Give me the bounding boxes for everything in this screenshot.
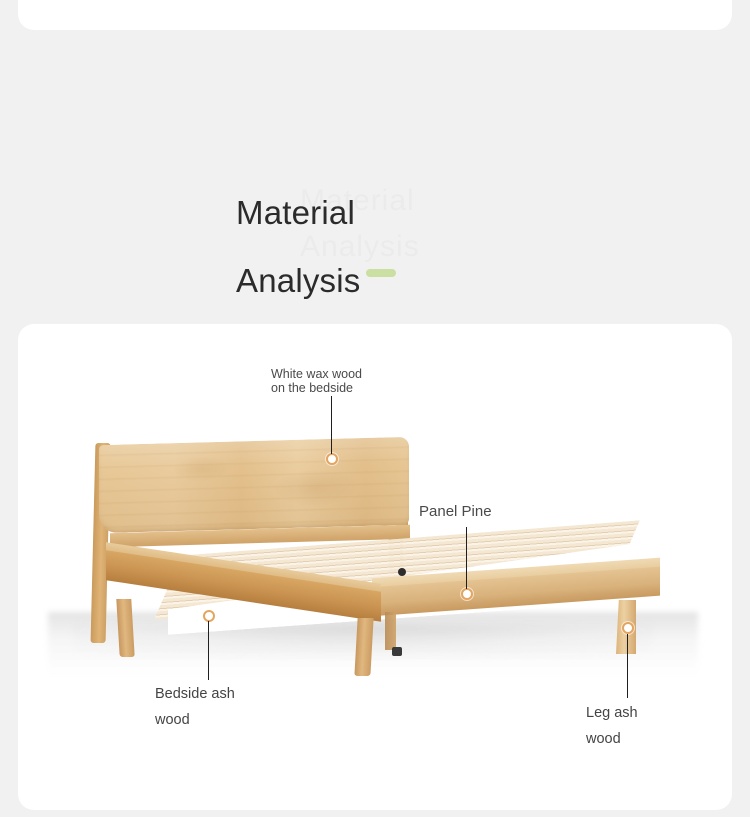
marker-headboard-wax-wood[interactable] (326, 453, 338, 465)
page-title-line-2: Analysis (236, 261, 360, 301)
top-card-slab (18, 0, 732, 30)
leader-leg-ash-wood (627, 634, 628, 698)
section-title-block: Material Analysis Material Analysis (0, 176, 750, 306)
title-accent-bar (366, 269, 396, 277)
material-analysis-page: Material Analysis Material Analysis (0, 0, 750, 817)
leader-panel-pine (466, 527, 467, 589)
callout-label-headboard-wax-wood: White wax wood on the bedside (271, 367, 451, 395)
leader-bedside-ash-wood (208, 621, 209, 680)
bed-leg-middle (354, 618, 373, 676)
marker-panel-pine[interactable] (461, 588, 473, 600)
callout-label-bedside-ash-wood: Bedside ash wood (155, 681, 305, 733)
callout-label-leg-ash-wood: Leg ash wood (586, 700, 736, 752)
page-title-line-1: Material (236, 193, 355, 233)
frame-fitting-knob (398, 568, 406, 576)
leader-headboard-wax-wood (331, 396, 332, 454)
headboard-panel (99, 437, 409, 533)
headboard-wood-grain (99, 437, 409, 533)
callout-label-panel-pine: Panel Pine (419, 503, 599, 521)
marker-leg-ash-wood[interactable] (622, 622, 634, 634)
bed-foot-pad (392, 647, 402, 656)
bed-leg-head-left (116, 599, 134, 657)
bed-leg-far (385, 612, 396, 650)
